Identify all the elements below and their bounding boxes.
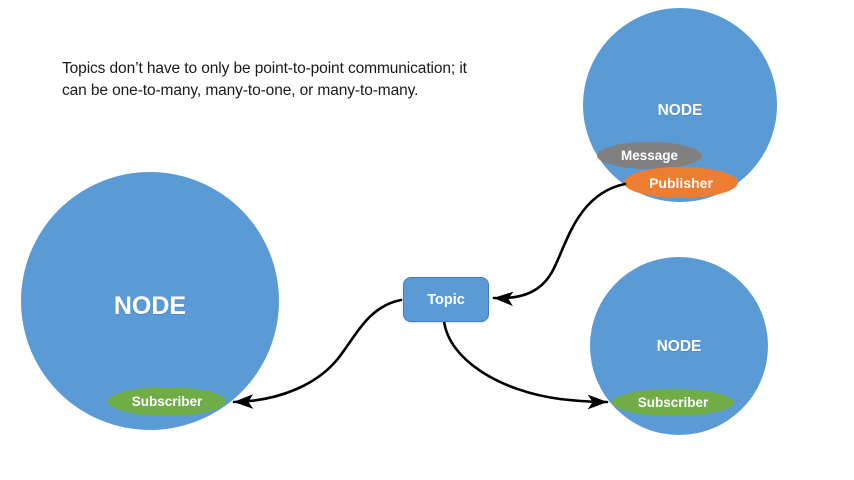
- node-bottom-right-label: NODE: [590, 338, 768, 356]
- caption-line-1: Topics don’t have to only be point-to-po…: [62, 60, 467, 77]
- caption-text: Topics don’t have to only be point-to-po…: [62, 58, 482, 103]
- node-top-right-label: NODE: [583, 102, 777, 120]
- edge-publisher-to-topic: [494, 184, 625, 298]
- subscriber-ellipse-bottom-right: Subscriber: [612, 389, 734, 416]
- node-left-label: NODE: [21, 292, 279, 321]
- caption-line-2: can be one-to-many, many-to-one, or many…: [62, 82, 418, 99]
- edge-topic-to-bottom-right-subscriber: [444, 321, 607, 402]
- topic-box[interactable]: Topic: [403, 277, 489, 322]
- message-ellipse: Message: [597, 142, 702, 169]
- diagram-canvas: Topics don’t have to only be point-to-po…: [0, 0, 854, 480]
- subscriber-ellipse-left: Subscriber: [108, 387, 226, 416]
- publisher-ellipse: Publisher: [624, 167, 738, 198]
